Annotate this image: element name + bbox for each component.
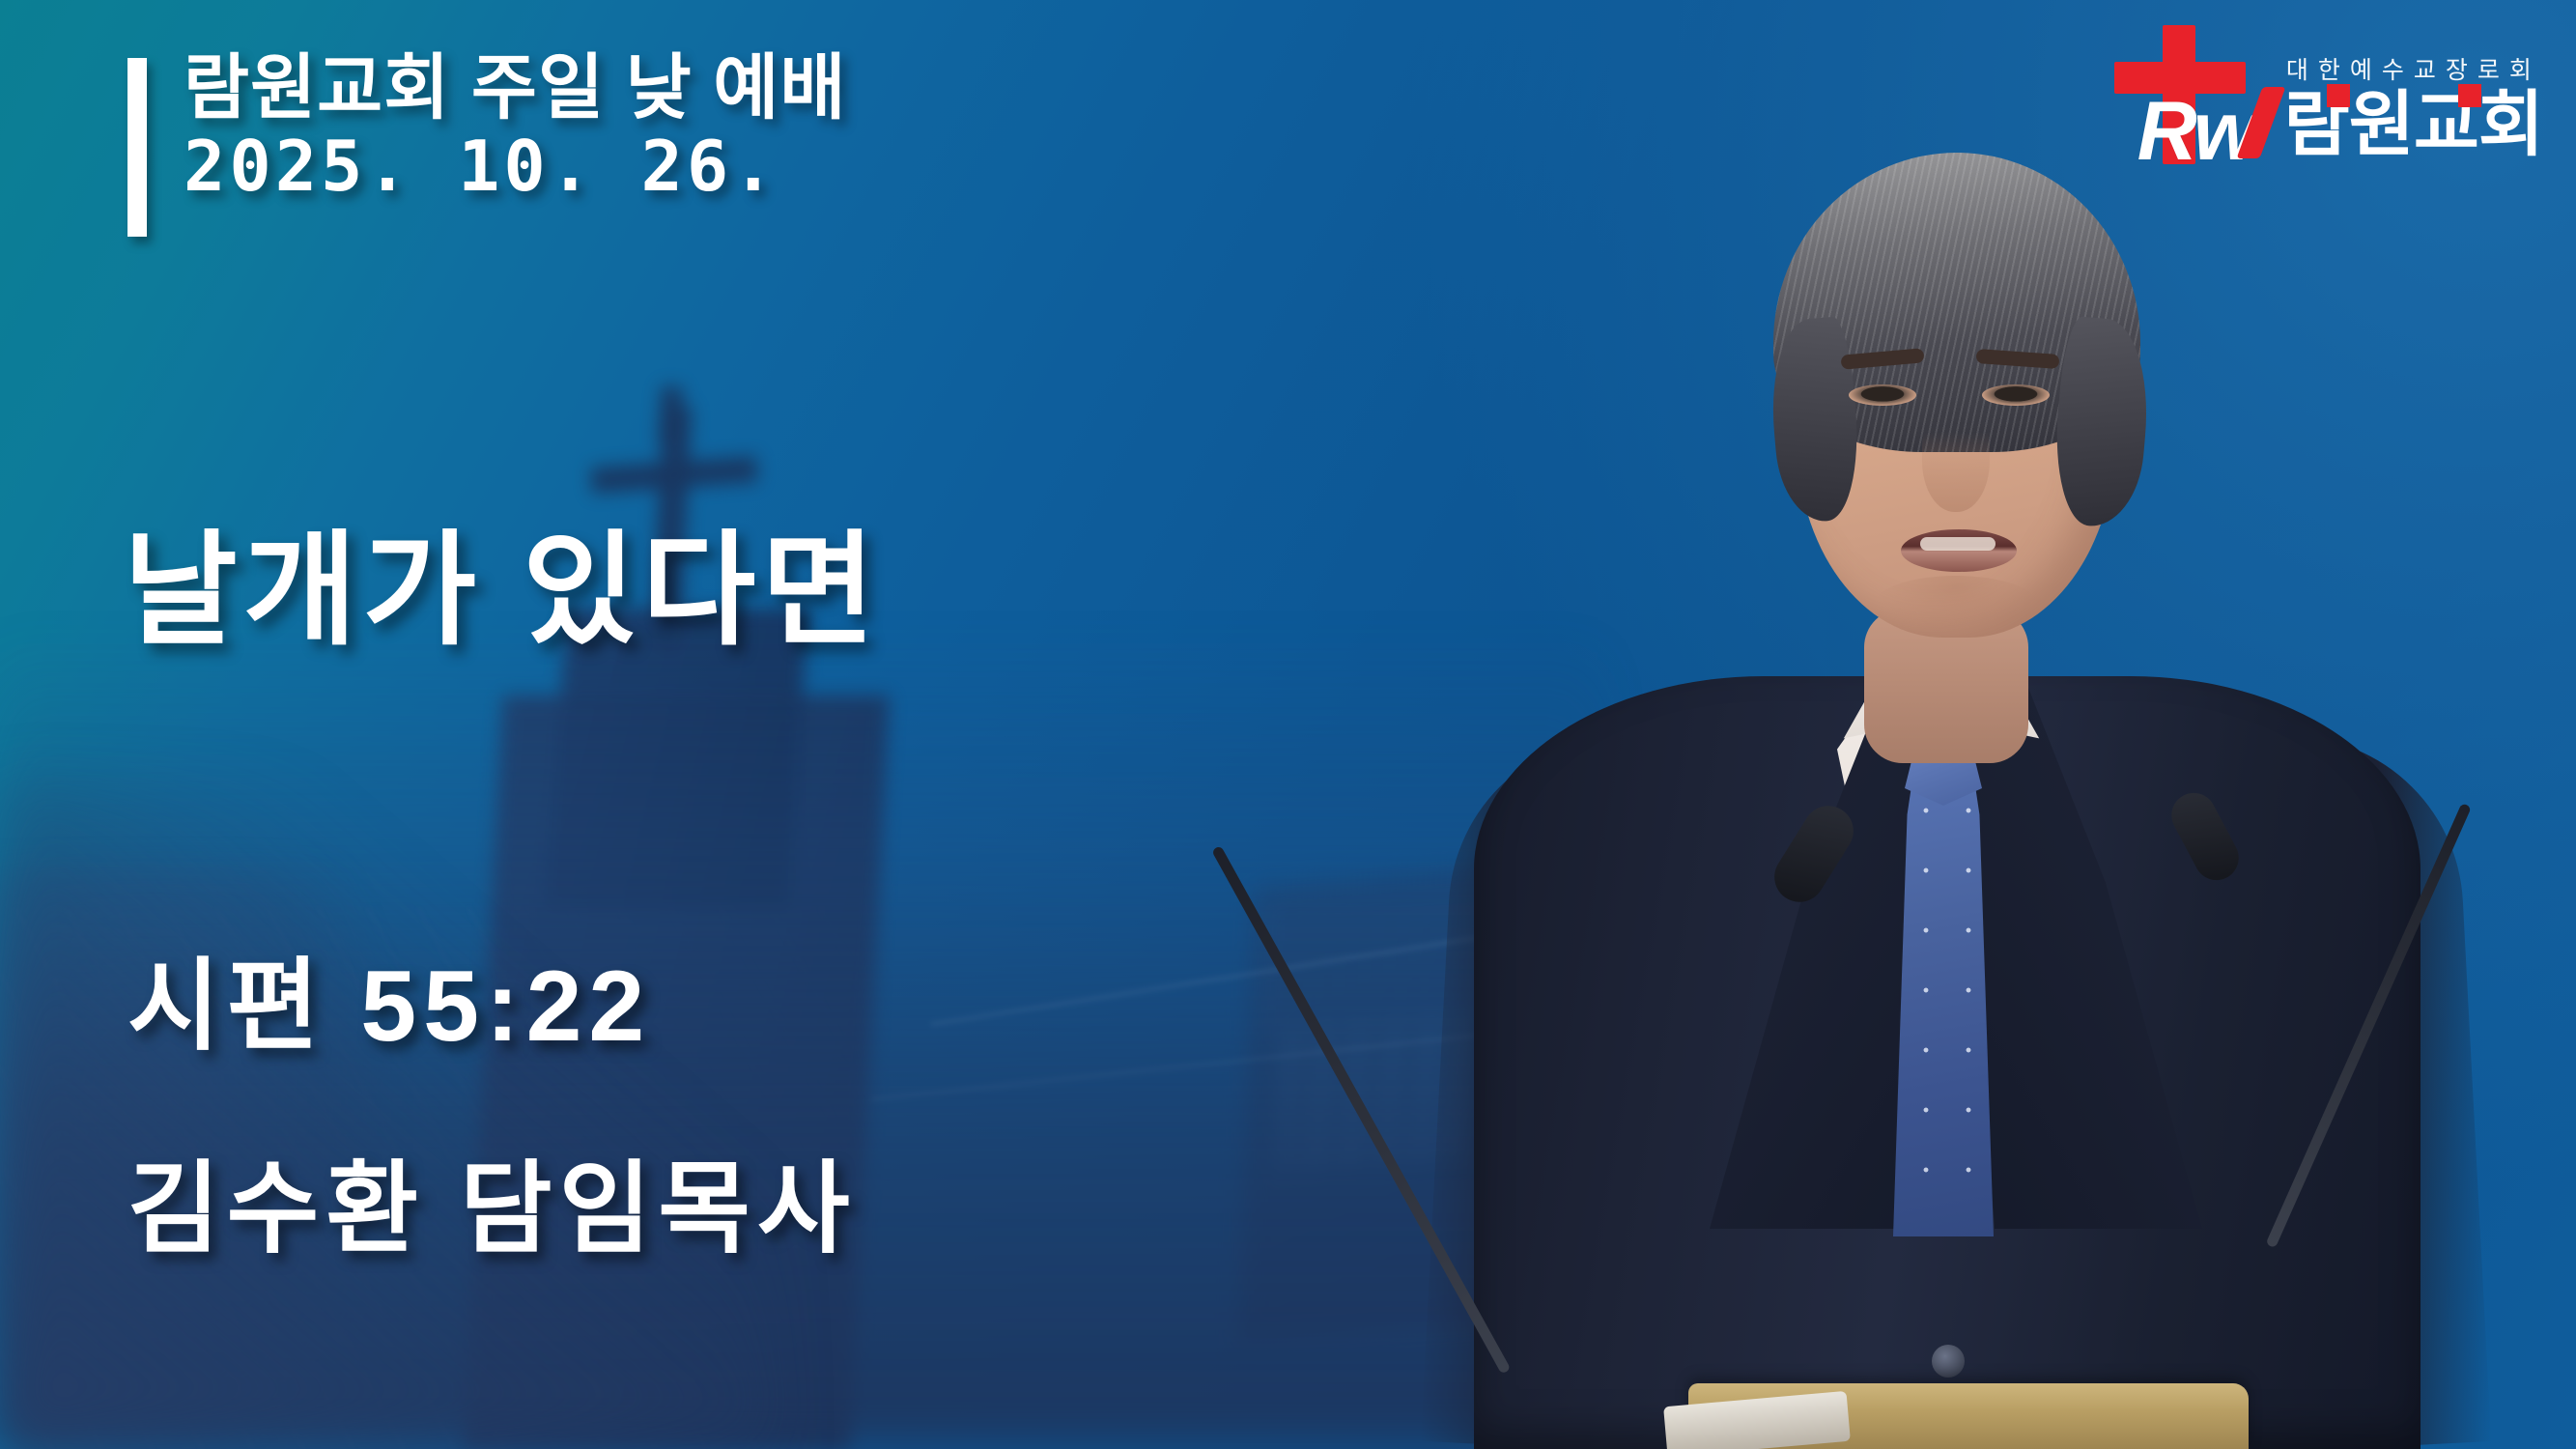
sermon-title: 날개가 있다면: [124, 529, 881, 653]
pastor-portrait: [1294, 0, 2576, 1449]
church-name-text: 람원교회: [2284, 84, 2543, 164]
steeple-cross-tip: [658, 385, 683, 444]
service-title: 람원교회 주일 낮 예배: [184, 50, 846, 126]
church-logo: Rw 대한예수교장로회 람원교회: [2087, 21, 2543, 164]
eye-right: [1982, 384, 2050, 406]
service-date: 2025. 10. 26.: [184, 129, 846, 205]
scripture-reference: 시편 55:22: [127, 956, 651, 1057]
denomination-label: 대한예수교장로회: [2286, 51, 2541, 86]
teeth: [1920, 537, 1996, 551]
suit-button: [1932, 1345, 1965, 1378]
nose: [1922, 406, 1990, 512]
mouth: [1901, 529, 2017, 572]
cross-rw-icon: Rw: [2087, 21, 2271, 164]
chin: [1874, 576, 2038, 634]
church-name-label: 람원교회: [2284, 88, 2543, 160]
header-lines: 람원교회 주일 낮 예배 2025. 10. 26.: [184, 50, 846, 237]
header-accent-bar: [127, 58, 147, 237]
header-block: 람원교회 주일 낮 예배 2025. 10. 26.: [127, 50, 846, 237]
logo-text-block: 대한예수교장로회 람원교회: [2284, 51, 2543, 164]
background-vignette-left: [0, 782, 773, 1449]
logo-dot-left-icon: [2327, 84, 2350, 107]
eye-left: [1849, 384, 1916, 406]
necktie-pattern: [1893, 773, 1994, 1227]
speaker-name: 김수환 담임목사: [127, 1159, 857, 1260]
broadcast-title-card: 람원교회 주일 낮 예배 2025. 10. 26. 날개가 있다면 시편 55…: [0, 0, 2576, 1449]
logo-dot-right-icon: [2458, 84, 2481, 107]
